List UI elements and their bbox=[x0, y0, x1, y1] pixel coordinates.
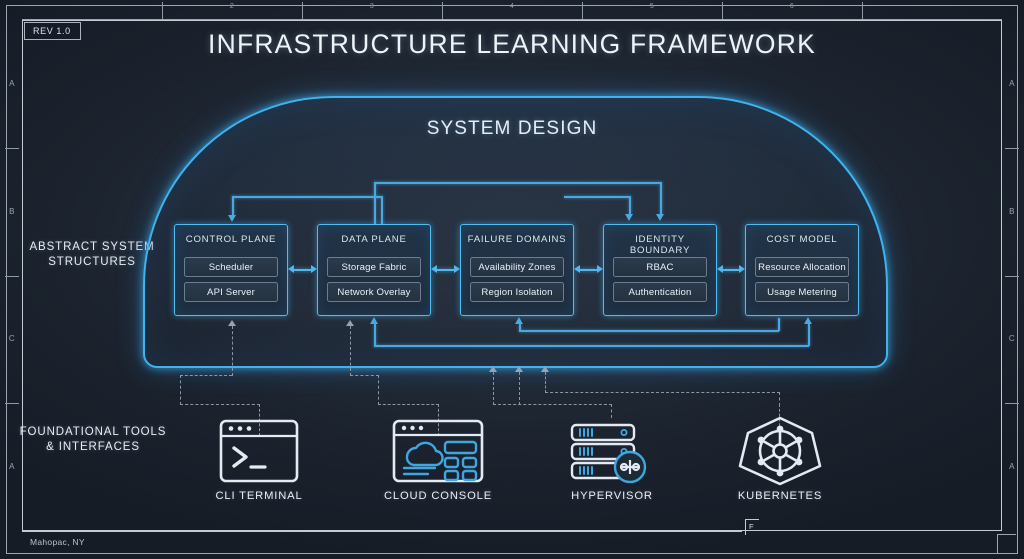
ruler-tick bbox=[862, 2, 863, 19]
zone-letter: A bbox=[1002, 462, 1022, 471]
ruler-number: 5 bbox=[650, 3, 654, 10]
tool-label: HYPERVISOR bbox=[537, 490, 687, 502]
zone-column-right: ABCA bbox=[1002, 20, 1022, 531]
module-title: IDENTITY BOUNDARY bbox=[604, 234, 716, 256]
tool-cli-terminal[interactable]: CLI TERMINAL bbox=[184, 415, 334, 502]
module-title: FAILURE DOMAINS bbox=[461, 234, 573, 245]
caption-abstract-system-structures: ABSTRACT SYSTEM STRUCTURES bbox=[22, 240, 162, 270]
caption-foundational-tools: FOUNDATIONAL TOOLS & INTERFACES bbox=[18, 425, 168, 455]
module-item[interactable]: RBAC bbox=[613, 257, 707, 277]
zone-divider bbox=[1005, 276, 1019, 277]
module-data-plane[interactable]: DATA PLANE Storage Fabric Network Overla… bbox=[317, 224, 431, 316]
module-item[interactable]: Resource Allocation bbox=[755, 257, 849, 277]
ruler-tick bbox=[582, 2, 583, 19]
diagram-canvas: 23456 ABCA ABCA REV 1.0 Mahopac, NY F IN… bbox=[0, 0, 1024, 559]
terminal-icon bbox=[184, 415, 334, 487]
module-item[interactable]: Network Overlay bbox=[327, 282, 421, 302]
zone-letter: B bbox=[1002, 207, 1022, 216]
ruler-number: 3 bbox=[370, 3, 374, 10]
tool-cloud-console[interactable]: CLOUD CONSOLE bbox=[363, 415, 513, 502]
zone-letter: C bbox=[2, 334, 22, 343]
zone-letter: C bbox=[1002, 334, 1022, 343]
tool-label: CLOUD CONSOLE bbox=[363, 490, 513, 502]
module-item[interactable]: Usage Metering bbox=[755, 282, 849, 302]
arrow-failure-to-identity bbox=[574, 265, 603, 274]
module-item[interactable]: API Server bbox=[184, 282, 278, 302]
module-item[interactable]: Storage Fabric bbox=[327, 257, 421, 277]
module-item[interactable]: Authentication bbox=[613, 282, 707, 302]
title-block-footer: Mahopac, NY bbox=[22, 531, 742, 555]
corner-zone-letter: F bbox=[749, 522, 754, 531]
ruler-top: 23456 bbox=[22, 2, 1002, 20]
ruler-number: 4 bbox=[510, 3, 514, 10]
zone-divider bbox=[5, 403, 19, 404]
tool-hypervisor[interactable]: HYPERVISOR bbox=[537, 415, 687, 502]
zone-letter: A bbox=[2, 79, 22, 88]
arrow-data-to-failure bbox=[431, 265, 460, 274]
arrow-control-to-data bbox=[288, 265, 317, 274]
tool-kubernetes[interactable]: KUBERNETES bbox=[705, 415, 855, 502]
module-cost-model[interactable]: COST MODEL Resource Allocation Usage Met… bbox=[745, 224, 859, 316]
tool-label: KUBERNETES bbox=[705, 490, 855, 502]
module-item[interactable]: Region Isolation bbox=[470, 282, 564, 302]
zone-letter: A bbox=[1002, 79, 1022, 88]
module-title: DATA PLANE bbox=[318, 234, 430, 245]
ruler-number: 6 bbox=[790, 3, 794, 10]
zone-divider bbox=[5, 276, 19, 277]
module-title: COST MODEL bbox=[746, 234, 858, 245]
page-title: INFRASTRUCTURE LEARNING FRAMEWORK bbox=[0, 29, 1024, 60]
ruler-number: 2 bbox=[230, 3, 234, 10]
ruler-tick bbox=[442, 2, 443, 19]
arrow-identity-to-cost bbox=[717, 265, 745, 274]
corner-bracket-bottom-right bbox=[997, 534, 1016, 553]
module-failure-domains[interactable]: FAILURE DOMAINS Availability Zones Regio… bbox=[460, 224, 574, 316]
module-item[interactable]: Scheduler bbox=[184, 257, 278, 277]
kubernetes-helm-icon bbox=[705, 415, 855, 487]
zone-letter: A bbox=[2, 462, 22, 471]
ruler-tick bbox=[722, 2, 723, 19]
server-stack-icon bbox=[537, 415, 687, 487]
tool-label: CLI TERMINAL bbox=[184, 490, 334, 502]
module-control-plane[interactable]: CONTROL PLANE Scheduler API Server bbox=[174, 224, 288, 316]
module-title: CONTROL PLANE bbox=[175, 234, 287, 245]
dome-title: SYSTEM DESIGN bbox=[0, 118, 1024, 140]
zone-divider bbox=[1005, 148, 1019, 149]
ruler-tick bbox=[162, 2, 163, 19]
footer-location-text: Mahopac, NY bbox=[30, 537, 85, 547]
cloud-console-icon bbox=[363, 415, 513, 487]
module-identity-boundary[interactable]: IDENTITY BOUNDARY RBAC Authentication bbox=[603, 224, 717, 316]
zone-letter: B bbox=[2, 207, 22, 216]
ruler-tick bbox=[302, 2, 303, 19]
zone-divider bbox=[5, 148, 19, 149]
module-item[interactable]: Availability Zones bbox=[470, 257, 564, 277]
corner-zone-marker: F bbox=[745, 519, 759, 535]
zone-divider bbox=[1005, 403, 1019, 404]
